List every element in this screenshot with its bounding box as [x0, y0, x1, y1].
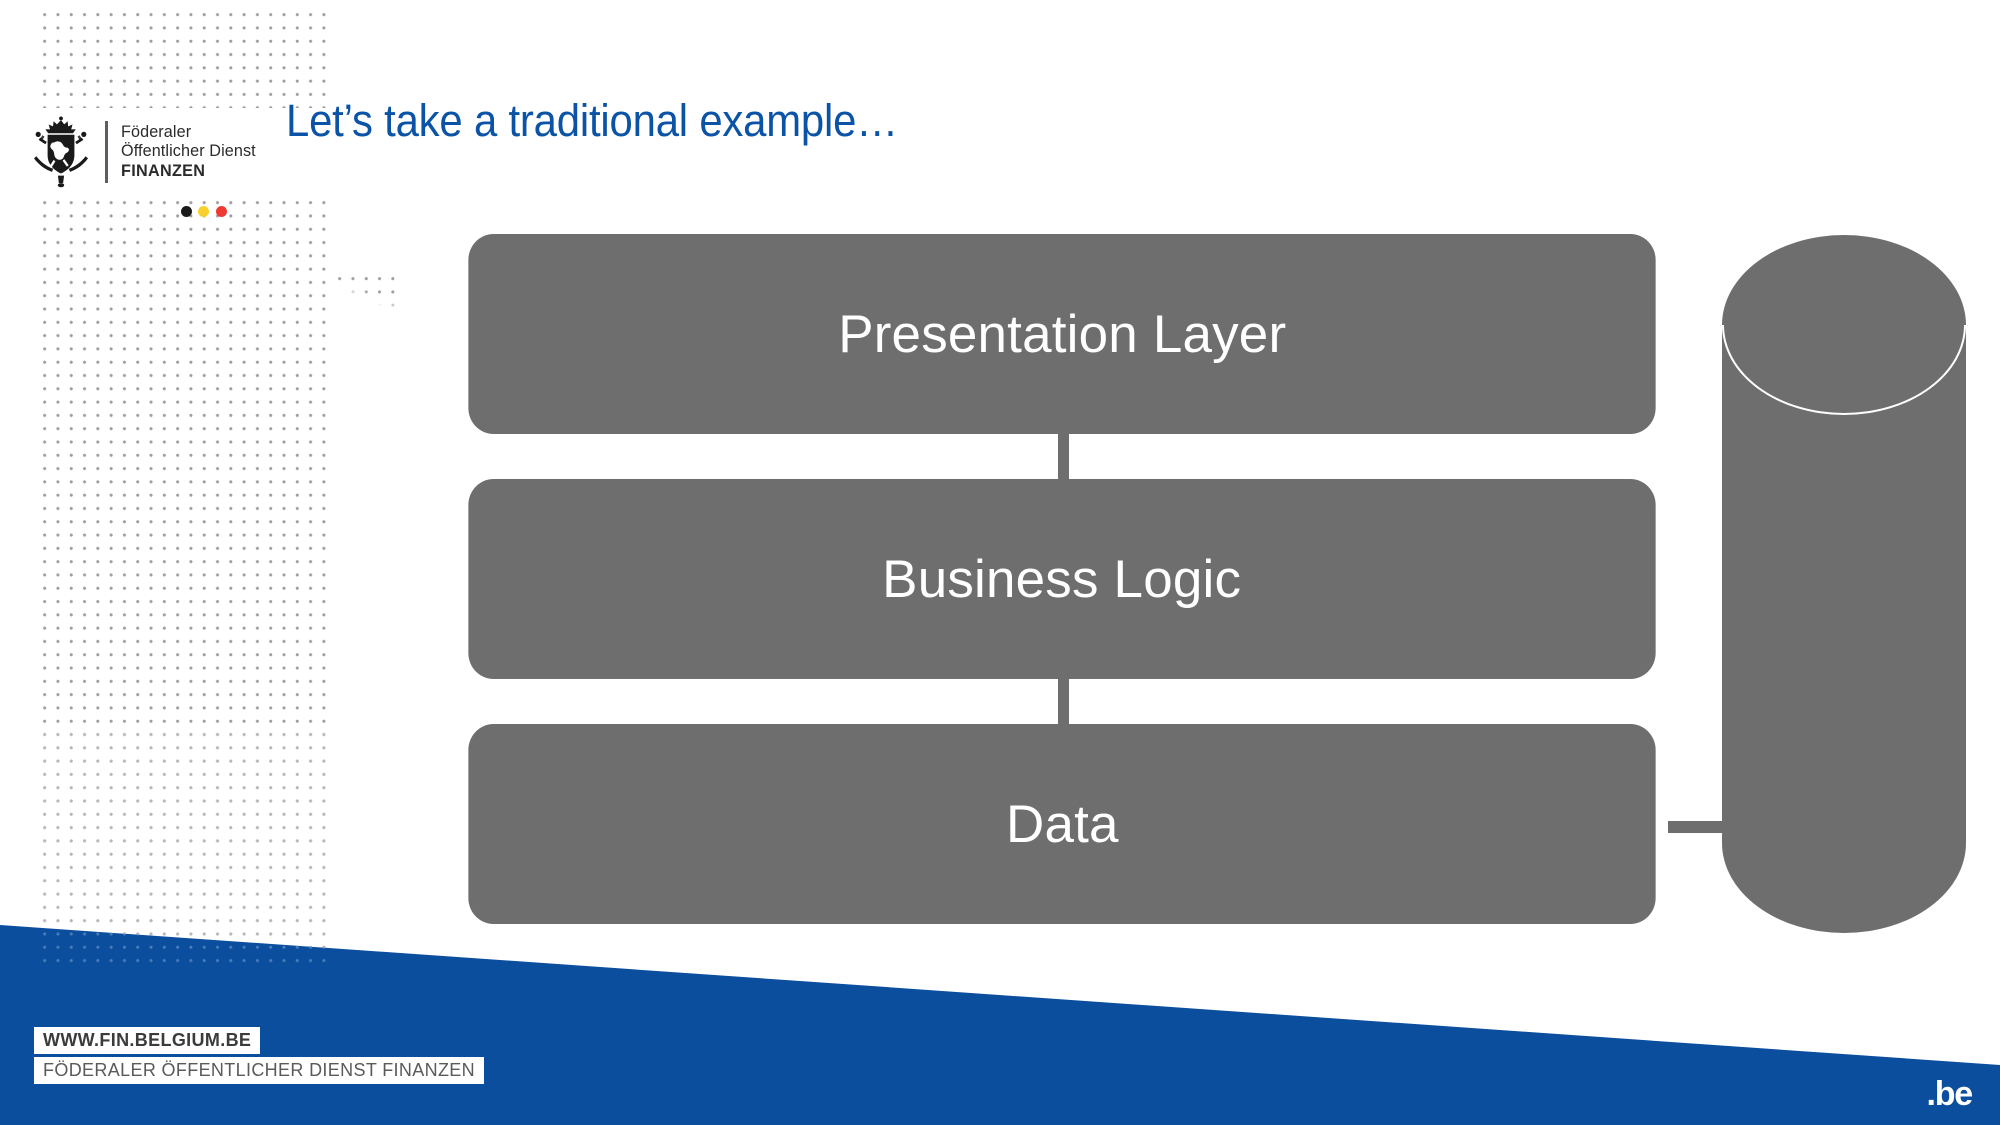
- footer-organisation: FÖDERALER ÖFFENTLICHER DIENST FINANZEN: [34, 1057, 484, 1084]
- flag-dot-red: [216, 206, 227, 217]
- belgian-lion-crest-icon: [30, 116, 92, 188]
- slide-canvas: Föderaler Öffentlicher Dienst FINANZEN L…: [0, 0, 2000, 1125]
- belgian-flag-dots: [181, 206, 227, 217]
- database-cylinder-icon: [1722, 235, 1966, 933]
- logo-line-3: FINANZEN: [121, 162, 256, 181]
- connector-presentation-to-business: [1058, 433, 1069, 480]
- slide-title: Let’s take a traditional example…: [286, 95, 898, 147]
- dot-pattern-spur: [333, 272, 395, 318]
- connector-business-to-data: [1058, 678, 1069, 725]
- layer-box-presentation: Presentation Layer: [468, 234, 1655, 434]
- logo-divider: [105, 121, 108, 183]
- layer-box-data: Data: [468, 724, 1655, 924]
- layer-label-data: Data: [1006, 794, 1119, 855]
- connector-data-to-database: [1668, 821, 1730, 833]
- logo-wordmark: Föderaler Öffentlicher Dienst FINANZEN: [121, 123, 256, 181]
- footer-website[interactable]: WWW.FIN.BELGIUM.BE: [34, 1027, 260, 1054]
- layer-box-business-logic: Business Logic: [468, 479, 1655, 679]
- cylinder-bottom-cap: [1722, 753, 1966, 933]
- flag-dot-black: [181, 206, 192, 217]
- flag-dot-yellow: [198, 206, 209, 217]
- layer-label-presentation: Presentation Layer: [838, 304, 1286, 365]
- layer-label-business-logic: Business Logic: [883, 549, 1242, 610]
- dotbe-logo: .be: [1926, 1077, 1972, 1111]
- dot-pattern-main: [38, 196, 333, 964]
- footer-labels: WWW.FIN.BELGIUM.BE FÖDERALER ÖFFENTLICHE…: [34, 1027, 484, 1084]
- logo-line-1: Föderaler: [121, 123, 256, 142]
- logo-line-2: Öffentlicher Dienst: [121, 142, 256, 161]
- fod-finanzen-logo: Föderaler Öffentlicher Dienst FINANZEN: [30, 116, 256, 188]
- dot-pattern-over-blue: [38, 196, 333, 964]
